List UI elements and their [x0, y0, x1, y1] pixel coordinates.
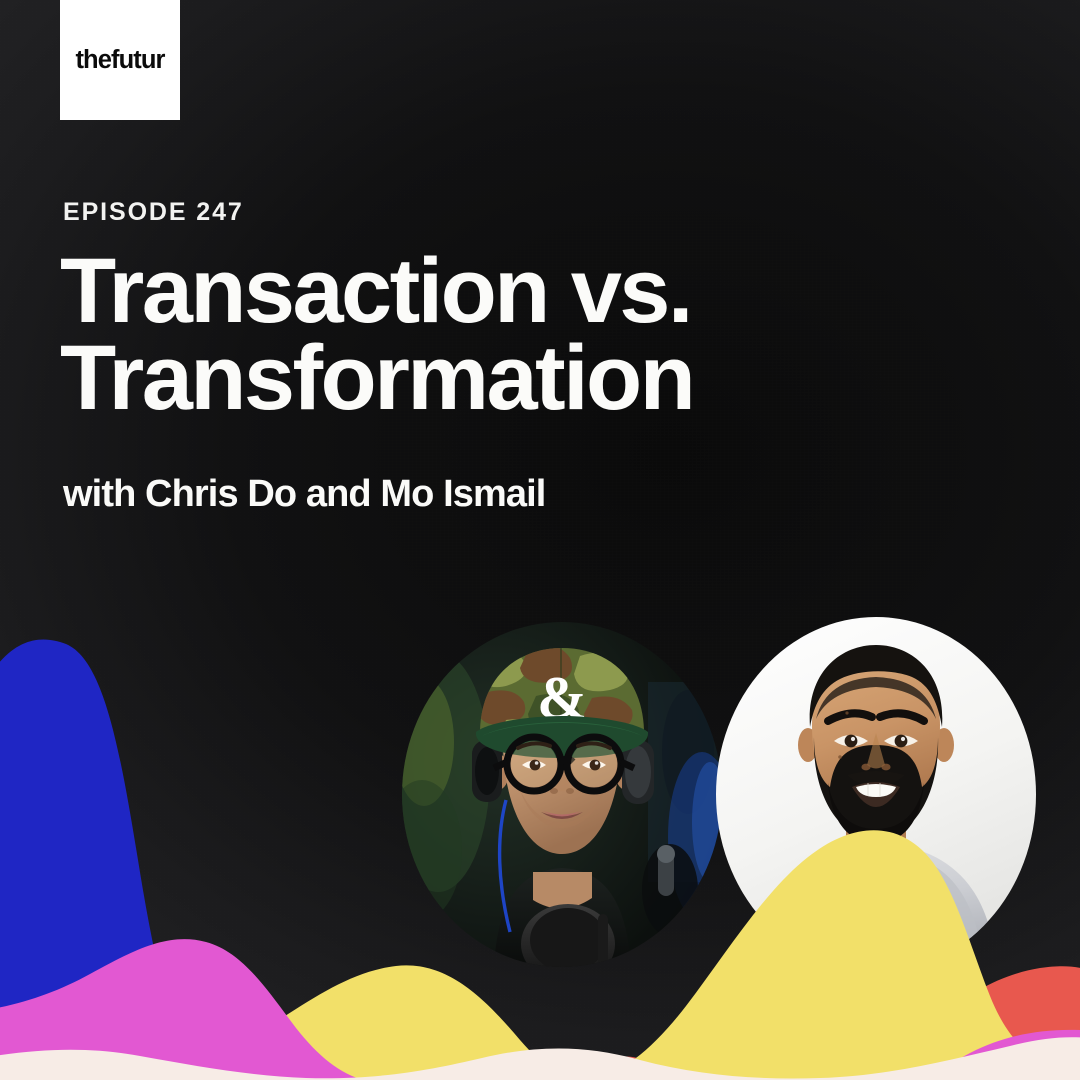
- podcast-cover: thefutur EPISODE 247 Transaction vs. Tra…: [0, 0, 1080, 1080]
- episode-label: EPISODE 247: [63, 200, 244, 225]
- avatar-mo-ismail: [716, 617, 1036, 972]
- guest-byline: with Chris Do and Mo Ismail: [63, 475, 545, 513]
- thefutur-logo[interactable]: thefutur: [60, 0, 180, 120]
- mo-ismail-photo: [716, 617, 1036, 972]
- logo-wordmark: thefutur: [75, 48, 164, 74]
- page-title: Transaction vs. Transformation: [60, 248, 720, 423]
- avatar-chris-do: &: [402, 622, 722, 967]
- title-line-1: Transaction vs.: [60, 248, 720, 335]
- chris-do-photo: &: [402, 622, 722, 967]
- title-line-2: Transformation: [60, 335, 720, 422]
